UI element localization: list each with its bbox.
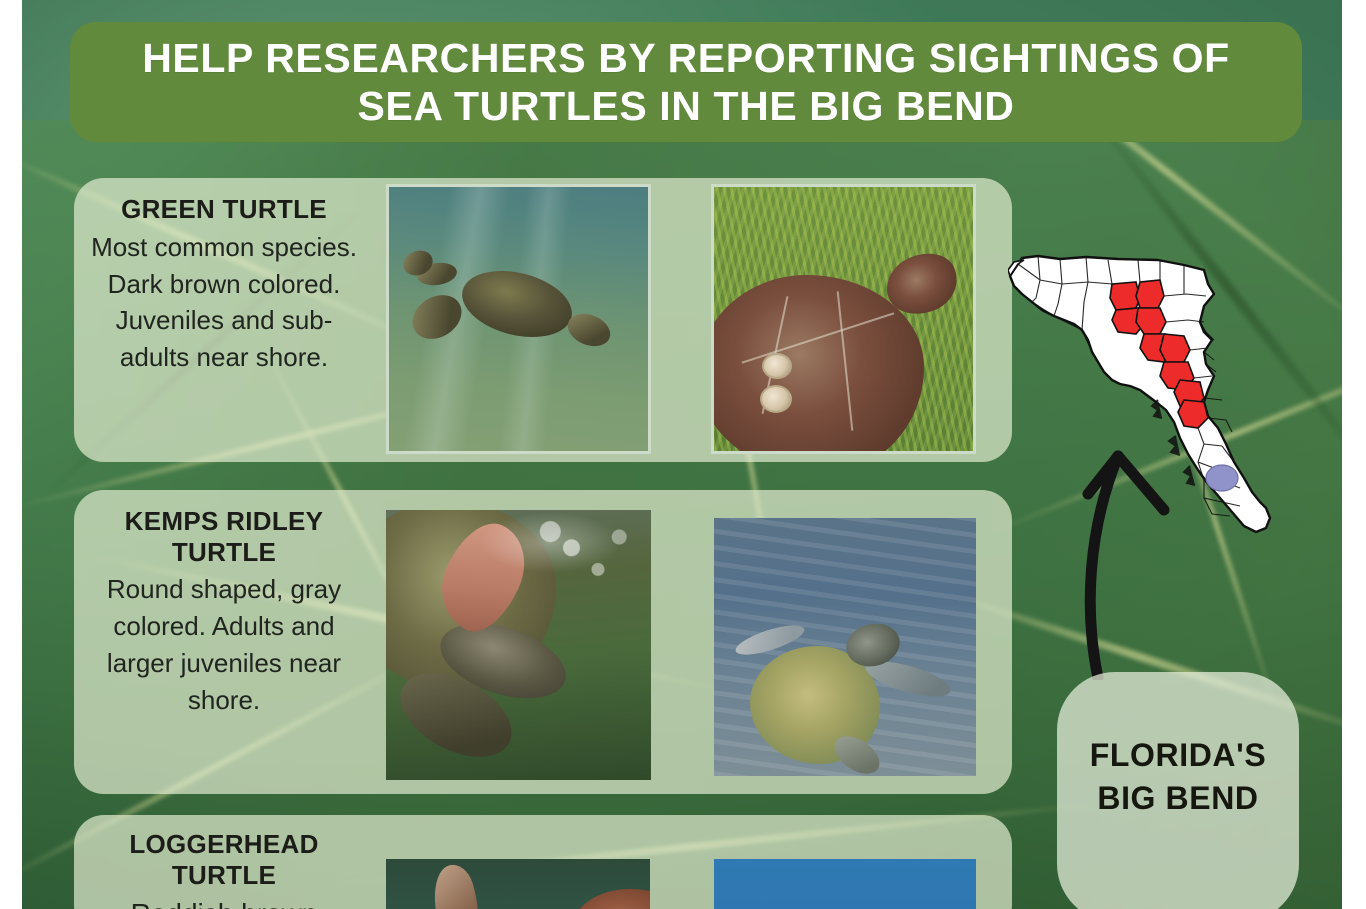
species-name-loggerhead: LOGGERHEAD TURTLE (88, 829, 360, 890)
badge-line-1: FLORIDA'S (1090, 734, 1267, 777)
species-description-green: Most common species. Dark brown colored.… (88, 229, 360, 377)
species-text-column-loggerhead: LOGGERHEAD TURTLE Reddish brown (74, 815, 374, 909)
species-description-loggerhead: Reddish brown (88, 894, 360, 909)
loggerhead-blue-water-photo (714, 859, 976, 909)
green-turtle-seagrass-photo (711, 184, 976, 454)
florida-big-bend-badge: FLORIDA'S BIG BEND (1057, 672, 1299, 909)
florida-county-map (1008, 240, 1308, 550)
loggerhead-underwater-photo (386, 859, 650, 909)
species-card-loggerhead-turtle: LOGGERHEAD TURTLE Reddish brown (74, 815, 1012, 909)
species-name-kemps: KEMPS RIDLEY TURTLE (88, 506, 360, 567)
species-card-kemps-ridley-turtle: KEMPS RIDLEY TURTLE Round shaped, gray c… (74, 490, 1012, 794)
species-description-kemps: Round shaped, gray colored. Adults and l… (88, 571, 360, 719)
kemps-ridley-release-photo (386, 510, 651, 780)
species-text-column-green: GREEN TURTLE Most common species. Dark b… (74, 178, 374, 386)
green-turtle-swimming-photo (386, 184, 651, 454)
header-banner: HELP RESEARCHERS BY REPORTING SIGHTINGS … (70, 22, 1302, 142)
poster-canvas: HELP RESEARCHERS BY REPORTING SIGHTINGS … (22, 0, 1342, 909)
kemps-ridley-surfacing-photo (714, 518, 976, 776)
species-text-column-kemps: KEMPS RIDLEY TURTLE Round shaped, gray c… (74, 490, 374, 729)
species-card-green-turtle: GREEN TURTLE Most common species. Dark b… (74, 178, 1012, 462)
species-name-green: GREEN TURTLE (88, 194, 360, 225)
page-title: HELP RESEARCHERS BY REPORTING SIGHTINGS … (96, 34, 1276, 131)
badge-line-2: BIG BEND (1097, 777, 1258, 820)
lake-okeechobee (1206, 465, 1238, 491)
